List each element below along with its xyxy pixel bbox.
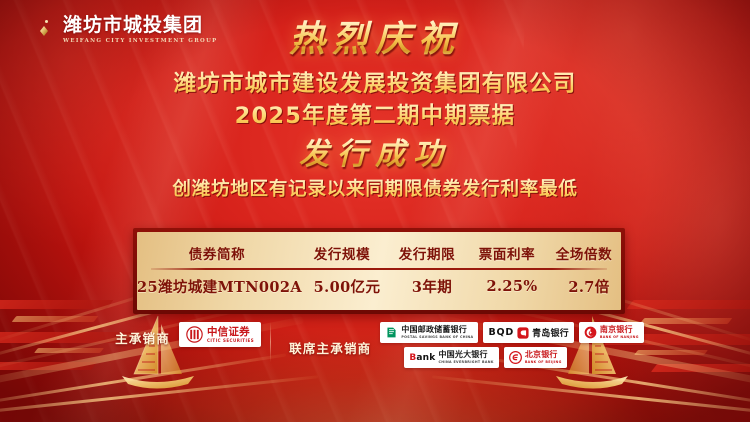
cell-term: 3年期 xyxy=(392,276,472,297)
qingdao-abbr: BQD xyxy=(488,327,514,338)
column-header-coupon-rate: 票面利率 xyxy=(467,243,547,263)
underwriter-logo-nanjing: 南京银行 BANK OF NANJING xyxy=(579,322,644,343)
cell-oversubscription: 2.7倍 xyxy=(552,276,626,297)
citic-seal-icon xyxy=(186,326,203,343)
joint-logo-row-1: 中国邮政储蓄银行 POSTAL SAVINGS BANK OF CHINA BQ… xyxy=(380,322,644,343)
bank-of-nanjing-icon xyxy=(584,326,597,339)
lead-underwriter-group: 主承销商 中信证券 CITIC SECURITIES xyxy=(106,322,261,347)
column-header-term: 发行期限 xyxy=(387,243,467,263)
everbright-name-cn: 中国光大银行 xyxy=(438,351,493,359)
column-header-scale: 发行规模 xyxy=(297,243,387,263)
citic-name-en: CITIC SECURITIES xyxy=(207,339,254,343)
cell-coupon-rate: 2.25% xyxy=(472,278,552,295)
headline-block: 热烈庆祝 潍坊市城市建设发展投资集团有限公司 2025年度第二期中期票据 发行成… xyxy=(0,18,750,203)
table-header-row: 债券简称 发行规模 发行期限 票面利率 全场倍数 xyxy=(137,238,621,268)
headline-achievement: 创潍坊地区有记录以来同期限债券发行利率最低 xyxy=(0,178,750,203)
headline-success: 发行成功 xyxy=(293,137,457,172)
everbright-abbr: Bank xyxy=(409,353,435,363)
joint-underwriter-label: 联席主承销商 xyxy=(289,333,371,357)
nanjing-name-en: BANK OF NANJING xyxy=(600,336,639,339)
underwriter-logo-qingdao: BQD 青岛银行 xyxy=(483,322,573,343)
underwriter-logo-everbright: Bank 中国光大银行 CHINA EVERBRIGHT BANK xyxy=(404,347,498,368)
bond-summary-table: 债券简称 发行规模 发行期限 票面利率 全场倍数 25潍坊城建MTN002A 5… xyxy=(133,228,625,314)
postal-savings-name-en: POSTAL SAVINGS BANK OF CHINA xyxy=(401,336,473,339)
bank-of-beijing-icon xyxy=(509,351,522,364)
underwriter-divider xyxy=(270,322,271,362)
joint-logo-row-2: Bank 中国光大银行 CHINA EVERBRIGHT BANK xyxy=(380,347,644,368)
headline-celebrate: 热烈庆祝 xyxy=(283,18,467,60)
cell-bond-name: 25潍坊城建MTN002A xyxy=(137,276,302,297)
everbright-name-en: CHINA EVERBRIGHT BANK xyxy=(438,361,493,364)
celebration-poster: 潍坊市城投集团 WEIFANG CITY INVESTMENT GROUP 热烈… xyxy=(0,0,750,422)
lead-underwriter-label: 主承销商 xyxy=(115,323,170,347)
cell-scale: 5.00亿元 xyxy=(302,276,392,297)
underwriter-logo-postal-savings: 中国邮政储蓄银行 POSTAL SAVINGS BANK OF CHINA xyxy=(380,322,478,343)
postal-savings-name-cn: 中国邮政储蓄银行 xyxy=(401,326,473,334)
headline-issue: 2025年度第二期中期票据 xyxy=(0,101,750,131)
underwriter-bar: 主承销商 中信证券 CITIC SECURITIES 联席主承销商 xyxy=(0,322,750,378)
beijing-name-en: BANK OF BEIJING xyxy=(525,361,562,364)
joint-underwriter-group: 联席主承销商 中国邮政储蓄银行 POSTAL SAVINGS xyxy=(280,322,644,368)
headline-company: 潍坊市城市建设发展投资集团有限公司 xyxy=(0,69,750,99)
underwriter-logo-citic: 中信证券 CITIC SECURITIES xyxy=(179,322,261,347)
table-row: 25潍坊城建MTN002A 5.00亿元 3年期 2.25% 2.7倍 xyxy=(137,270,621,302)
citic-name-cn: 中信证券 xyxy=(207,327,254,338)
postal-savings-bank-icon xyxy=(385,326,398,339)
underwriter-logo-beijing: 北京银行 BANK OF BEIJING xyxy=(504,347,567,368)
beijing-name-cn: 北京银行 xyxy=(525,351,562,359)
column-header-oversubscription: 全场倍数 xyxy=(547,243,621,263)
column-header-bond-name: 债券简称 xyxy=(137,243,297,263)
qingdao-name-cn: 青岛银行 xyxy=(532,326,569,339)
bank-of-qingdao-icon xyxy=(517,327,529,339)
nanjing-name-cn: 南京银行 xyxy=(600,326,639,334)
